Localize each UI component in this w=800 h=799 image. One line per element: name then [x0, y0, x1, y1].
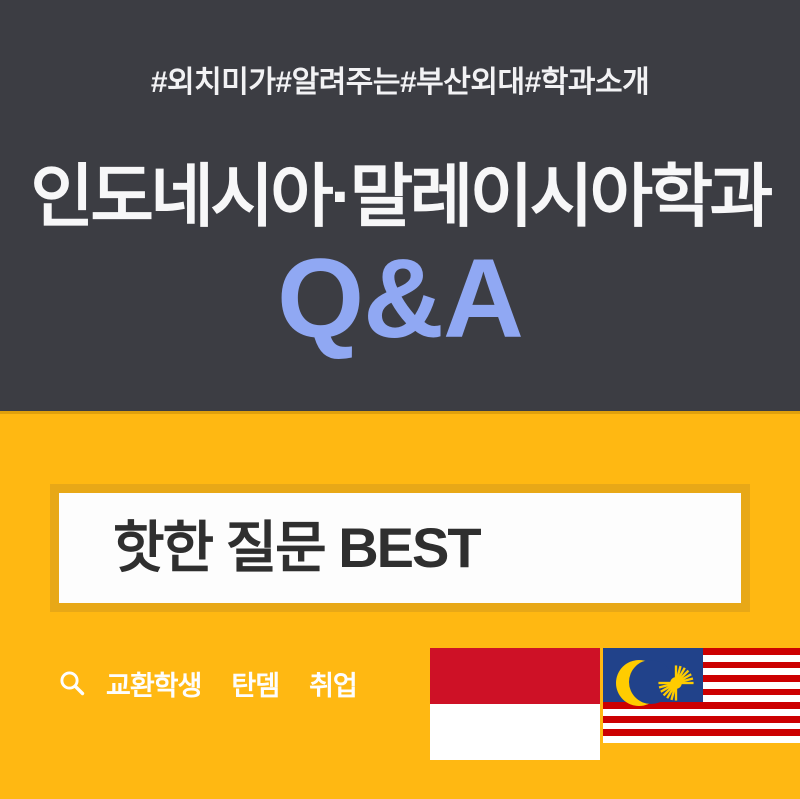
indonesia-flag-white-band [430, 704, 600, 760]
malaysia-stripe [603, 729, 800, 736]
top-dark-panel: #외치미가#알려주는#부산외대#학과소개 인도네시아·말레이시아학과 Q&A [0, 0, 800, 413]
indonesia-flag [430, 648, 600, 760]
keyword-row: 교환학생 탄뎀 취업 [58, 660, 357, 706]
bottom-yellow-panel: 핫한 질문 BEST 교환학생 탄뎀 취업 [0, 414, 800, 799]
keyword-tandem[interactable]: 탄뎀 [231, 664, 279, 703]
malaysia-star-icon [658, 665, 694, 701]
department-title: 인도네시아·말레이시아학과 [0, 161, 800, 233]
indonesia-flag-red-band [430, 648, 600, 704]
keyword-exchange-student[interactable]: 교환학생 [106, 664, 201, 703]
malaysia-flag [603, 648, 800, 743]
malaysia-stripe [603, 716, 800, 723]
hashtag-line: #외치미가#알려주는#부산외대#학과소개 [0, 57, 800, 101]
headline-box: 핫한 질문 BEST [50, 484, 750, 612]
qa-label: Q&A [0, 243, 800, 355]
search-icon [58, 669, 86, 697]
headline-box-inner: 핫한 질문 BEST [59, 493, 741, 603]
keyword-employment[interactable]: 취업 [309, 664, 357, 703]
promotional-card: #외치미가#알려주는#부산외대#학과소개 인도네시아·말레이시아학과 Q&A 핫… [0, 0, 800, 799]
headline-text: 핫한 질문 BEST [59, 520, 480, 576]
